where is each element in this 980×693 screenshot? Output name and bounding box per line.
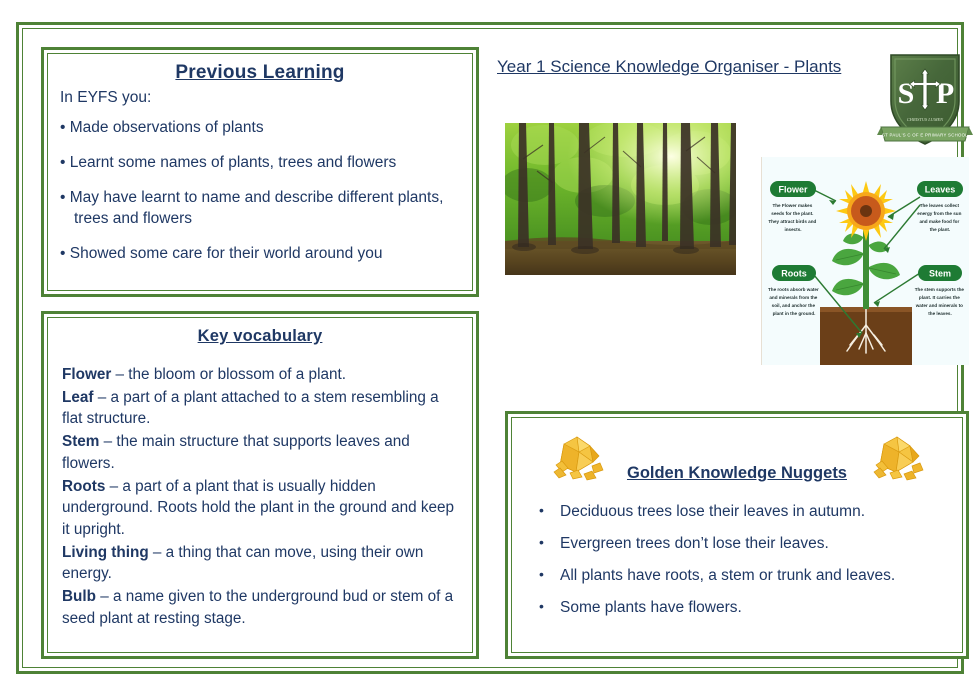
list-item: Some plants have flowers. (528, 598, 946, 619)
list-item: Living thing – a thing that can move, us… (62, 542, 458, 585)
vocab-definition: – a name given to the underground bud or… (62, 588, 453, 627)
vocab-definition: – a part of a plant attached to a stem r… (62, 389, 439, 428)
list-item: Evergreen trees don’t lose their leaves. (528, 534, 946, 555)
vocab-definition: – the bloom or blossom of a plant. (116, 366, 346, 383)
page-title: Year 1 Science Knowledge Organiser - Pla… (497, 53, 847, 80)
key-vocabulary-title: Key vocabulary (62, 327, 458, 346)
vocab-term: Living thing (62, 544, 149, 561)
key-vocabulary-card: Key vocabulary Flower – the bloom or blo… (41, 311, 479, 659)
list-item: Flower – the bloom or blossom of a plant… (62, 364, 458, 386)
key-vocabulary-list: Flower – the bloom or blossom of a plant… (62, 364, 458, 630)
previous-learning-title: Previous Learning (60, 62, 460, 84)
list-item: Roots – a part of a plant that is usuall… (62, 476, 458, 541)
crest-motto: CHRISTUS LUMEN (907, 117, 944, 122)
golden-nuggets-list: Deciduous trees lose their leaves in aut… (528, 502, 946, 619)
sunflower-head (836, 181, 896, 241)
previous-learning-content: Previous Learning In EYFS you: Made obse… (47, 53, 473, 291)
vocab-definition: – the main structure that supports leave… (62, 433, 410, 472)
svg-text:Roots: Roots (781, 269, 807, 279)
list-item: Leaf – a part of a plant attached to a s… (62, 387, 458, 430)
key-vocabulary-content: Key vocabulary Flower – the bloom or blo… (47, 317, 473, 653)
vocab-term: Bulb (62, 588, 96, 605)
golden-knowledge-nuggets-card: Golden Knowledge Nuggets (505, 411, 969, 659)
svg-text:Flower: Flower (778, 185, 808, 195)
vocab-term: Leaf (62, 389, 93, 406)
crest-banner-text: ST PAUL'S C OF E PRIMARY SCHOOL (882, 133, 968, 138)
forest-photo (505, 123, 736, 275)
list-item: Bulb – a name given to the underground b… (62, 586, 458, 629)
list-item: Showed some care for their world around … (60, 244, 460, 265)
list-item: Deciduous trees lose their leaves in aut… (528, 502, 946, 523)
previous-learning-card: Previous Learning In EYFS you: Made obse… (41, 47, 479, 297)
plant-parts-diagram: Flower The Flower makes seeds for the pl… (761, 157, 969, 365)
svg-text:Leaves: Leaves (925, 185, 956, 195)
gold-nugget-icon (866, 432, 928, 484)
vocab-definition: – a part of a plant that is usually hidd… (62, 478, 454, 538)
list-item: Stem – the main structure that supports … (62, 431, 458, 474)
golden-nuggets-content: Golden Knowledge Nuggets (511, 417, 963, 653)
previous-learning-list: Made observations of plants Learnt some … (60, 118, 460, 265)
list-item: All plants have roots, a stem or trunk a… (528, 566, 946, 587)
vocab-term: Flower (62, 366, 111, 383)
list-item: Learnt some names of plants, trees and f… (60, 153, 460, 174)
list-item: Made observations of plants (60, 118, 460, 139)
school-crest-logo: S P CHRISTUS LUMEN ST PAUL'S C OF E PRIM… (875, 49, 975, 154)
document-outer-frame: Previous Learning In EYFS you: Made obse… (16, 22, 964, 674)
vocab-term: Roots (62, 478, 105, 495)
svg-text:Stem: Stem (929, 269, 951, 279)
vocab-term: Stem (62, 433, 99, 450)
golden-nuggets-header: Golden Knowledge Nuggets (528, 430, 946, 492)
previous-learning-intro: In EYFS you: (60, 88, 460, 109)
svg-text:P: P (936, 77, 954, 110)
list-item: May have learnt to name and describe dif… (60, 188, 460, 230)
document-inner-frame: Previous Learning In EYFS you: Made obse… (22, 28, 958, 668)
